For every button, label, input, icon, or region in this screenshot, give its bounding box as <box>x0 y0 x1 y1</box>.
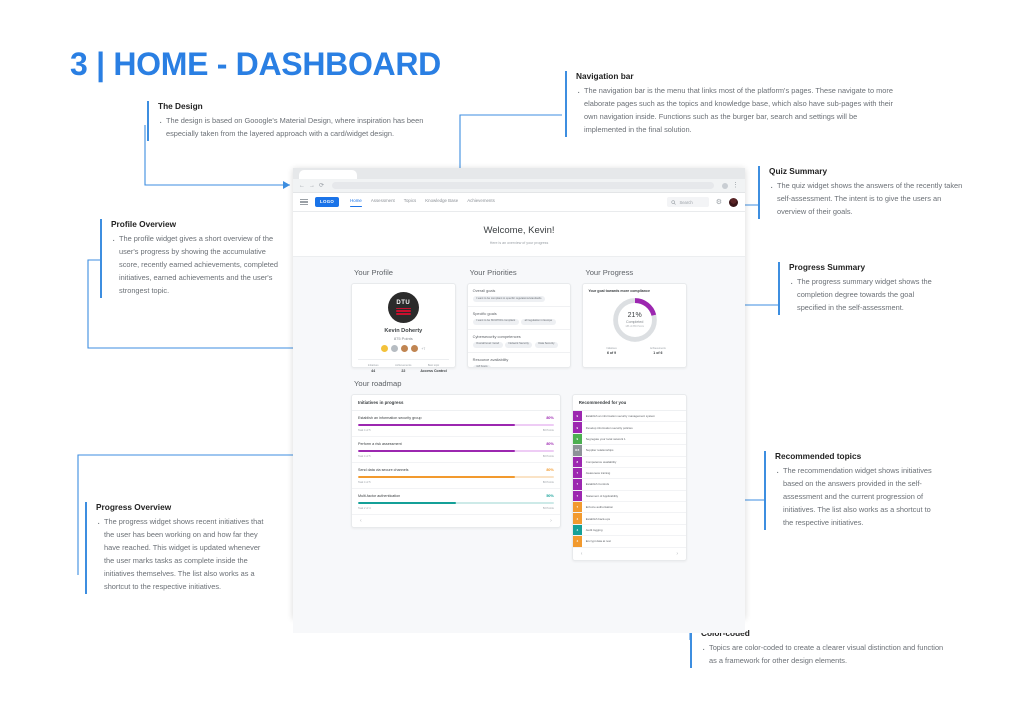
recommendation-name: Establish an information security manage… <box>582 411 659 421</box>
initiative-task-count: Task 4 of 5 <box>358 429 371 432</box>
app-logo[interactable]: LOGO <box>315 197 339 207</box>
priority-heading: Resource availability <box>473 357 566 362</box>
recommendation-row[interactable]: 4 Encrypt data at rest <box>573 536 686 547</box>
initiatives-pager: ‹ › <box>352 515 560 527</box>
annotation-title: Quiz Summary <box>769 166 963 177</box>
recommendation-row[interactable]: 8.5 Supplier relationships <box>573 445 686 456</box>
stat-value: Access Control <box>418 369 448 373</box>
recommendation-score: 8 <box>573 457 582 467</box>
annotation-color-coded: Color-coded Topics are color-coded to cr… <box>690 628 945 668</box>
initiative-points: 80 Points <box>543 481 554 484</box>
profile-stat-best-topic: Best topic Access Control <box>418 364 448 373</box>
annotation-title: Profile Overview <box>111 219 280 230</box>
priority-section-cybersecurity-competences: Cybersecurity competences Overall level:… <box>468 330 571 353</box>
browser-tab[interactable] <box>299 170 357 179</box>
recommendation-score: 9 <box>573 422 582 432</box>
annotation-design: The Design The design is based on Gooogl… <box>147 101 442 141</box>
progress-label: Completed <box>626 320 643 324</box>
recommendation-score: 7 <box>573 491 582 501</box>
medal-silver <box>391 345 398 352</box>
medal-overflow-count: +7 <box>421 347 425 351</box>
top-cards-row: DTU Kevin Doherty 875 Points +7 <box>351 283 687 368</box>
recommendation-row[interactable]: 7 Establish Controls <box>573 479 686 490</box>
initiative-task-count: Task 4 of 5 <box>358 481 371 484</box>
browser-profile-icon[interactable] <box>722 183 728 189</box>
progress-track <box>358 502 554 505</box>
progress-heading: Your goal towards more compliance <box>588 289 681 293</box>
recommendation-row[interactable]: 7 Statement of Applicability <box>573 491 686 502</box>
initiative-name: Multi-factor authentication <box>358 494 400 498</box>
forward-arrow-icon[interactable]: → <box>309 183 315 189</box>
stat-value: 22 <box>388 369 418 373</box>
stat-value: 44 <box>358 369 388 373</box>
initiatives-card-title: Initiatives in progress <box>352 395 560 411</box>
donut-center-label: 21% Completed 186 of 886 Points <box>611 296 659 344</box>
initiative-row[interactable]: Establish an information security group … <box>352 411 560 437</box>
annotation-progress-summary: Progress Summary The progress summary wi… <box>778 262 938 315</box>
section-title-your-roadmap: Your roadmap <box>351 379 687 388</box>
section-title-your-progress: Your Progress <box>582 268 687 277</box>
recommendation-row[interactable]: 9 Establish an information security mana… <box>573 411 686 422</box>
stat-label: Achievements <box>635 347 681 350</box>
medal-bronze <box>401 345 408 352</box>
priority-section-resource-availability: Resource availability 4-8 hours <box>468 353 571 368</box>
initiative-row[interactable]: Multi-factor authentication 50% Task 2 o… <box>352 489 560 515</box>
nav-links: Home Assessment Topics Knowledge Base Ac… <box>350 198 495 206</box>
recommended-card-title: Recommended for you <box>573 395 686 411</box>
annotation-body: The progress summary widget shows the co… <box>789 276 938 315</box>
chip: Network Security <box>505 342 532 348</box>
profile-widget[interactable]: DTU Kevin Doherty 875 Points +7 <box>351 283 456 368</box>
priority-section-specific-goals: Specific goals I want to be ISO27001 com… <box>468 307 571 330</box>
reload-icon[interactable]: ⟳ <box>319 183 324 189</box>
app-body: Welcome, Kevin! Here is an overview of y… <box>293 212 745 633</box>
profile-user-name: Kevin Doherty <box>358 328 449 334</box>
medal-gold <box>381 345 388 352</box>
stat-label: Best topic <box>418 364 448 367</box>
annotation-recommended-topics: Recommended topics The recommendation wi… <box>764 451 936 530</box>
initiatives-widget: Initiatives in progress Establish an inf… <box>351 394 561 528</box>
recommended-pager: ‹ › <box>573 548 686 560</box>
search-placeholder-text: Search <box>679 200 692 205</box>
stat-label: Initiatives <box>358 364 388 367</box>
welcome-subheading: Here is an overview of your progress <box>293 241 745 245</box>
dashboard-grid: Your Profile Your Priorities Your Progre… <box>293 257 745 561</box>
annotation-body: The design is based on Gooogle's Materia… <box>158 115 442 141</box>
next-page-icon[interactable]: › <box>676 551 678 557</box>
progress-subtext: 186 of 886 Points <box>625 325 644 328</box>
profile-points: 875 Points <box>358 336 449 341</box>
annotation-title: Navigation bar <box>576 71 895 82</box>
progress-percent: 21% <box>628 312 642 319</box>
priority-chips: 4-8 hours <box>473 365 566 368</box>
recommendation-name: Supplier relationships <box>582 445 618 455</box>
annotation-body: Topics are color-coded to create a clear… <box>701 642 945 668</box>
recommendation-row[interactable]: 9 Segregate your local network 1 <box>573 434 686 445</box>
initiative-name: Send data via secure channels <box>358 468 408 472</box>
annotation-body: The quiz widget shows the answers of the… <box>769 180 963 219</box>
progress-donut-wrap: 21% Completed 186 of 886 Points <box>588 296 681 344</box>
progress-track <box>358 424 554 427</box>
profile-stat-initiatives: Initiatives 44 <box>358 364 388 373</box>
progress-fill <box>358 424 515 427</box>
recommendation-row[interactable]: 9 Develop information security policies <box>573 422 686 433</box>
annotation-body: The progress widget shows recent initiat… <box>96 516 265 594</box>
stat-value: 6 of 9 <box>588 351 634 355</box>
annotation-quiz-summary: Quiz Summary The quiz widget shows the a… <box>758 166 963 219</box>
annotation-title: Recommended topics <box>775 451 936 462</box>
progress-track <box>358 476 554 479</box>
priority-chips: Overall level: Good Network Security Dat… <box>473 342 566 348</box>
search-input[interactable]: Search <box>667 197 708 207</box>
profile-stat-achievements: Achievements 22 <box>388 364 418 373</box>
recommendation-row[interactable]: 4 Establish back-ups <box>573 513 686 524</box>
welcome-banner: Welcome, Kevin! Here is an overview of y… <box>293 212 745 257</box>
priority-chips: I want to be compliant to specific regul… <box>473 296 566 302</box>
initiative-name: Establish an information security group <box>358 416 422 420</box>
initiative-row[interactable]: Perform a risk assessment 80% Task 4 of … <box>352 437 560 463</box>
annotation-profile-overview: Profile Overview The profile widget give… <box>100 219 280 298</box>
app-navigation-bar: LOGO Home Assessment Topics Knowledge Ba… <box>293 193 745 212</box>
recommendation-name: Develop information security policies <box>582 422 637 432</box>
recommendation-name: Establish back-ups <box>582 513 614 523</box>
nav-item-home[interactable]: Home <box>350 198 362 206</box>
browser-window: ← → ⟳ ⋮ LOGO Home Assessment Topics Know… <box>293 168 745 618</box>
progress-fill <box>358 450 515 453</box>
initiative-points: 50 Points <box>543 507 554 510</box>
recommendation-name: Awareness training <box>582 468 615 478</box>
avatar[interactable] <box>729 198 738 207</box>
recommendation-name: Enforce authorisation <box>582 502 617 512</box>
annotation-body: The profile widget gives a short overvie… <box>111 233 280 298</box>
chip: 4-8 hours <box>473 365 491 368</box>
initiative-percent: 80% <box>546 416 553 420</box>
progress-stat-initiatives: Initiatives 6 of 9 <box>588 347 634 355</box>
annotation-title: Progress Overview <box>96 502 265 513</box>
progress-fill <box>358 476 515 479</box>
section-title-your-priorities: Your Priorities <box>467 268 572 277</box>
recommendation-name: Establish Controls <box>582 479 613 489</box>
search-icon <box>671 200 676 205</box>
recommendation-name: Audit logging <box>582 525 607 535</box>
burger-menu-icon[interactable] <box>300 199 308 205</box>
next-page-icon[interactable]: › <box>550 518 552 524</box>
recommended-widget: Recommended for you 9 Establish an infor… <box>572 394 687 561</box>
initiative-percent: 80% <box>546 468 553 472</box>
recommendation-row[interactable]: 4 Audit logging <box>573 525 686 536</box>
nav-item-assessment[interactable]: Assessment <box>371 198 395 206</box>
progress-fill <box>358 502 456 505</box>
chip: all regulation in Europe <box>521 319 556 325</box>
annotation-progress-overview: Progress Overview The progress widget sh… <box>85 502 265 594</box>
recommendation-score: 7 <box>573 468 582 478</box>
nav-right-cluster: Search ⚙ <box>667 197 738 207</box>
stat-value: 1 of 6 <box>635 351 681 355</box>
dtu-logo-icon: DTU <box>388 292 419 323</box>
chip: Data Security <box>535 342 558 348</box>
priority-heading: Overall goals <box>473 288 566 293</box>
stat-label: Initiatives <box>588 347 634 350</box>
chip: I want to be ISO27001 compliant <box>473 319 519 325</box>
nav-item-achievements[interactable]: Achievements <box>467 198 495 206</box>
progress-stat-achievements: Achievements 1 of 6 <box>635 347 681 355</box>
recommendation-score: 9 <box>573 411 582 421</box>
progress-donut-chart: 21% Completed 186 of 886 Points <box>611 296 659 344</box>
progress-stats: Initiatives 6 of 9 Achievements 1 of 6 <box>588 347 681 355</box>
priority-heading: Cybersecurity competences <box>473 334 566 339</box>
url-input[interactable] <box>332 182 714 189</box>
prev-page-icon[interactable]: ‹ <box>581 551 583 557</box>
recommendation-row[interactable]: 7 Awareness training <box>573 468 686 479</box>
initiative-percent: 80% <box>546 442 553 446</box>
progress-track <box>358 450 554 453</box>
annotation-title: Progress Summary <box>789 262 938 273</box>
recommendation-name: Statement of Applicability <box>582 491 622 501</box>
prev-page-icon[interactable]: ‹ <box>360 518 362 524</box>
recommendation-score: 8.5 <box>573 445 582 455</box>
initiative-percent: 50% <box>546 494 553 498</box>
annotation-body: The recommendation widget shows initiati… <box>775 465 936 530</box>
recommendation-score: 9 <box>573 434 582 444</box>
initiative-task-count: Task 4 of 5 <box>358 455 371 458</box>
top-section-headers: Your Profile Your Priorities Your Progre… <box>351 257 687 283</box>
stat-label: Achievements <box>388 364 418 367</box>
progress-widget[interactable]: Your goal towards more compliance 21% <box>582 283 687 368</box>
annotation-navbar: Navigation bar The navigation bar is the… <box>565 71 895 137</box>
back-arrow-icon[interactable]: ← <box>299 183 305 189</box>
recommendation-row[interactable]: 8 Competence availability <box>573 457 686 468</box>
recommendation-name: Encrypt data at rest <box>582 536 615 546</box>
recommendation-score: 7 <box>573 479 582 489</box>
priority-section-overall-goals: Overall goals I want to be compliant to … <box>468 284 571 307</box>
recommendation-score: 4 <box>573 536 582 546</box>
initiative-points: 80 Points <box>543 429 554 432</box>
profile-medals: +7 <box>358 345 449 352</box>
chip: I want to be compliant to specific regul… <box>473 296 545 302</box>
nav-item-knowledge-base[interactable]: Knowledge Base <box>425 198 458 206</box>
annotation-body: The navigation bar is the menu that link… <box>576 85 895 137</box>
section-title-your-profile: Your Profile <box>351 268 456 277</box>
initiative-points: 80 Points <box>543 455 554 458</box>
recommendation-name: Segregate your local network 1 <box>582 434 630 444</box>
recommendation-score: 7 <box>573 502 582 512</box>
initiative-name: Perform a risk assessment <box>358 442 402 446</box>
gear-icon[interactable]: ⚙ <box>716 199 722 206</box>
recommendation-row[interactable]: 7 Enforce authorisation <box>573 502 686 513</box>
welcome-heading: Welcome, Kevin! <box>293 225 745 236</box>
recommendation-score: 4 <box>573 525 582 535</box>
chip: Overall level: Good <box>473 342 503 348</box>
priorities-widget[interactable]: Overall goals I want to be compliant to … <box>467 283 572 368</box>
roadmap-row: Initiatives in progress Establish an inf… <box>351 394 687 561</box>
page-title: 3 | HOME - DASHBOARD <box>70 46 441 83</box>
medal-bronze-2 <box>411 345 418 352</box>
browser-tabstrip <box>293 168 745 179</box>
dtu-badge-text: DTU <box>396 300 410 306</box>
slide-page: 3 | HOME - DASHBOARD <box>0 0 1024 726</box>
profile-stats: Initiatives 44 Achievements 22 Best topi… <box>358 359 449 373</box>
browser-toolbar: ← → ⟳ ⋮ <box>293 179 745 193</box>
nav-item-topics[interactable]: Topics <box>404 198 416 206</box>
priority-heading: Specific goals <box>473 311 566 316</box>
priority-chips: I want to be ISO27001 compliant all regu… <box>473 319 566 325</box>
annotation-title: The Design <box>158 101 442 112</box>
kebab-menu-icon[interactable]: ⋮ <box>732 182 739 189</box>
recommendation-score: 4 <box>573 513 582 523</box>
initiative-task-count: Task 2 of 4 <box>358 507 371 510</box>
initiative-row[interactable]: Send data via secure channels 80% Task 4… <box>352 463 560 489</box>
recommendation-name: Competence availability <box>582 457 621 467</box>
